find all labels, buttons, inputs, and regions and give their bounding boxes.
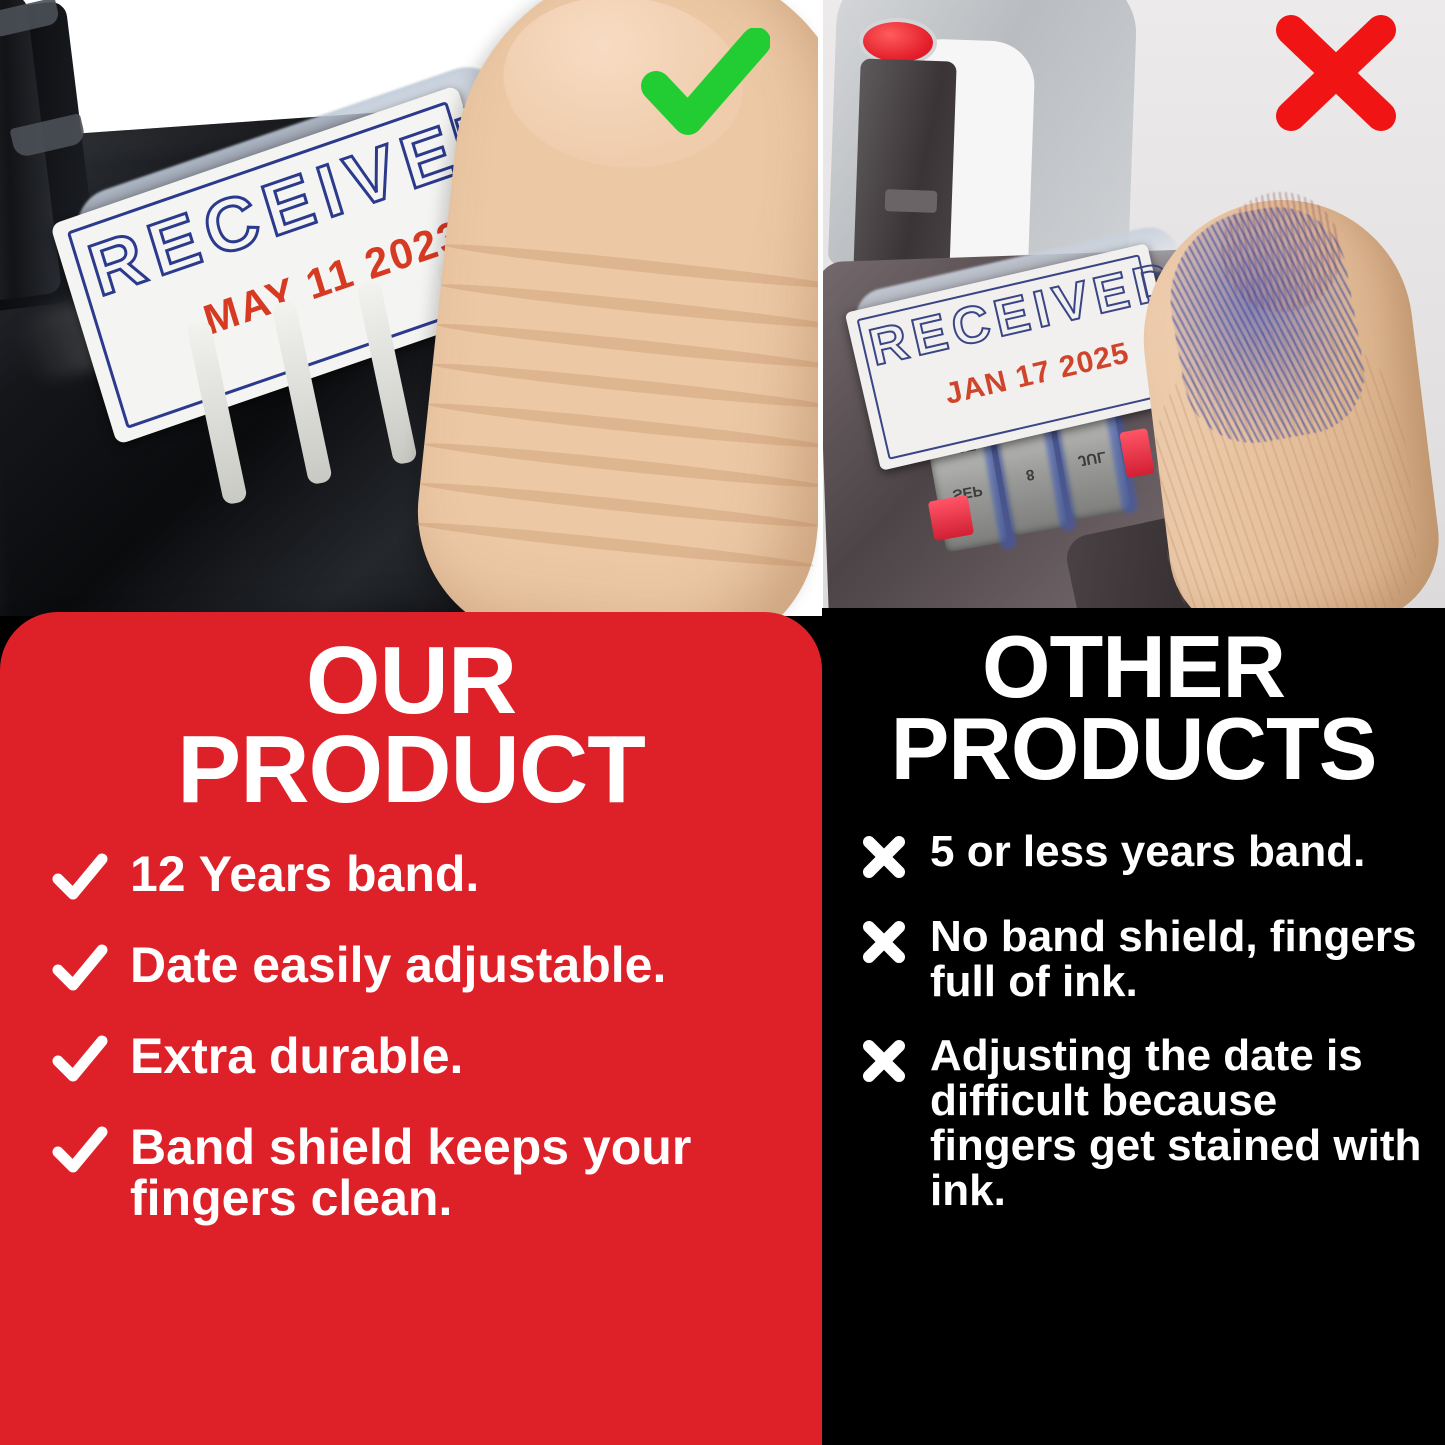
list-item: 5 or less years band. [822,830,1445,885]
list-item: Extra durable. [0,1031,822,1088]
check-icon [52,853,108,906]
our-product-photo: RECEIVED MAY 11 2023 [0,0,818,616]
title-line-1: OTHER [830,626,1437,708]
green-check-icon [640,28,770,136]
title-line-2: PRODUCTS [830,708,1437,790]
red-x-icon [1271,14,1401,132]
list-item-label: Extra durable. [130,1031,463,1082]
our-product-bullet-list: 12 Years band. Date easily adjustable. E… [0,849,822,1224]
comparison-infographic: RECEIVED MAY 11 2023 [0,0,1445,1445]
list-item-label: Date easily adjustable. [130,940,666,991]
x-icon [860,834,908,885]
check-icon [52,944,108,997]
photo-divider [818,0,823,616]
our-product-panel: OUR PRODUCT 12 Years band. Date easily a… [0,612,822,1445]
list-item-label: Band shield keeps your fingers clean. [130,1122,788,1224]
list-item: Band shield keeps your fingers clean. [0,1122,822,1224]
check-icon [52,1035,108,1088]
x-icon [860,1038,908,1089]
title-line-1: OUR [20,636,802,725]
list-item-label: Adjusting the date is difficult because … [930,1034,1427,1214]
other-products-panel: OTHER PRODUCTS 5 or less years band. No … [822,608,1445,1445]
other-products-title: OTHER PRODUCTS [822,626,1445,790]
list-item: No band shield, fingers full of ink. [822,915,1445,1005]
band-lever [928,495,974,541]
list-item-label: 5 or less years band. [930,830,1365,875]
our-product-title: OUR PRODUCT [0,636,822,815]
title-line-2: PRODUCT [20,725,802,814]
x-icon [860,919,908,970]
list-item-label: 12 Years band. [130,849,479,900]
list-item: Date easily adjustable. [0,940,822,997]
other-product-photo: OCT SEP 0 8 AUG JUL RECEIVED JAN 17 2025 [823,0,1445,616]
list-item-label: No band shield, fingers full of ink. [930,915,1427,1005]
list-item: 12 Years band. [0,849,822,906]
plunger-tab [885,189,938,213]
check-icon [52,1126,108,1179]
photo-row: RECEIVED MAY 11 2023 [0,0,1445,616]
list-item: Adjusting the date is difficult because … [822,1034,1445,1214]
other-products-bullet-list: 5 or less years band. No band shield, fi… [822,830,1445,1214]
